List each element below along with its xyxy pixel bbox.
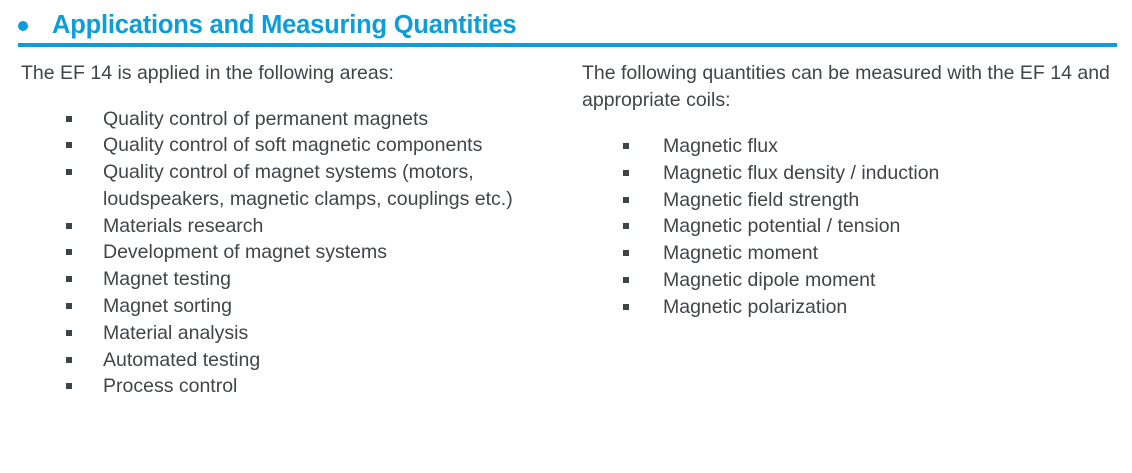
square-bullet-icon bbox=[623, 197, 629, 203]
list-item: Magnetic potential / tension bbox=[582, 213, 1112, 240]
square-bullet-icon bbox=[66, 357, 72, 363]
page-title-text: Applications and Measuring Quantities bbox=[52, 10, 516, 40]
list-item: Magnetic flux density / induction bbox=[582, 160, 1112, 187]
list-item-label: Magnetic field strength bbox=[663, 187, 1112, 214]
square-bullet-icon bbox=[623, 223, 629, 229]
list-item-label: Automated testing bbox=[103, 347, 566, 374]
list-item: Magnetic polarization bbox=[582, 294, 1112, 321]
list-item: Magnetic flux bbox=[582, 133, 1112, 160]
square-bullet-icon bbox=[66, 276, 72, 282]
square-bullet-icon bbox=[66, 249, 72, 255]
square-bullet-icon bbox=[623, 143, 629, 149]
list-item-label: Magnetic moment bbox=[663, 240, 1112, 267]
list-item-label: Quality control of soft magnetic compone… bbox=[103, 132, 566, 159]
square-bullet-icon bbox=[623, 277, 629, 283]
square-bullet-icon bbox=[66, 169, 72, 175]
list-item-label: Magnetic flux density / induction bbox=[663, 160, 1112, 187]
list-item-label: Magnet testing bbox=[103, 266, 566, 293]
list-item-label: Development of magnet systems bbox=[103, 239, 566, 266]
round-bullet-icon bbox=[18, 21, 28, 31]
list-item: Magnetic field strength bbox=[582, 187, 1112, 214]
list-item: Quality control of permanent magnets bbox=[21, 106, 566, 133]
list-item-label: Magnet sorting bbox=[103, 293, 566, 320]
list-item-label: Quality control of permanent magnets bbox=[103, 106, 566, 133]
list-item: Magnetic dipole moment bbox=[582, 267, 1112, 294]
square-bullet-icon bbox=[66, 383, 72, 389]
page-title: Applications and Measuring Quantities bbox=[18, 8, 1118, 42]
list-item-label: Process control bbox=[103, 373, 566, 400]
square-bullet-icon bbox=[623, 170, 629, 176]
list-item: Materials research bbox=[21, 213, 566, 240]
list-item: Process control bbox=[21, 373, 566, 400]
quantities-intro: The following quantities can be measured… bbox=[582, 58, 1112, 113]
applications-column: The EF 14 is applied in the following ar… bbox=[21, 58, 566, 400]
square-bullet-icon bbox=[66, 142, 72, 148]
list-item: Automated testing bbox=[21, 347, 566, 374]
list-item: Magnet sorting bbox=[21, 293, 566, 320]
applications-list: Quality control of permanent magnets Qua… bbox=[21, 106, 566, 401]
square-bullet-icon bbox=[623, 250, 629, 256]
square-bullet-icon bbox=[66, 223, 72, 229]
list-item: Magnetic moment bbox=[582, 240, 1112, 267]
list-item-label: Magnetic polarization bbox=[663, 294, 1112, 321]
square-bullet-icon bbox=[66, 330, 72, 336]
square-bullet-icon bbox=[66, 303, 72, 309]
list-item-label: Materials research bbox=[103, 213, 566, 240]
list-item-label: Magnetic dipole moment bbox=[663, 267, 1112, 294]
square-bullet-icon bbox=[623, 304, 629, 310]
list-item: Quality control of magnet systems (motor… bbox=[21, 159, 566, 213]
list-item: Development of magnet systems bbox=[21, 239, 566, 266]
square-bullet-icon bbox=[66, 116, 72, 122]
list-item-label: Quality control of magnet systems (motor… bbox=[103, 159, 566, 213]
list-item: Magnet testing bbox=[21, 266, 566, 293]
applications-intro: The EF 14 is applied in the following ar… bbox=[21, 58, 566, 87]
heading-divider bbox=[18, 43, 1117, 47]
list-item: Material analysis bbox=[21, 320, 566, 347]
content-columns: The EF 14 is applied in the following ar… bbox=[0, 58, 1132, 473]
quantities-list: Magnetic flux Magnetic flux density / in… bbox=[582, 133, 1112, 321]
list-item-label: Material analysis bbox=[103, 320, 566, 347]
quantities-column: The following quantities can be measured… bbox=[582, 58, 1112, 321]
list-item-label: Magnetic flux bbox=[663, 133, 1112, 160]
list-item-label: Magnetic potential / tension bbox=[663, 213, 1112, 240]
list-item: Quality control of soft magnetic compone… bbox=[21, 132, 566, 159]
